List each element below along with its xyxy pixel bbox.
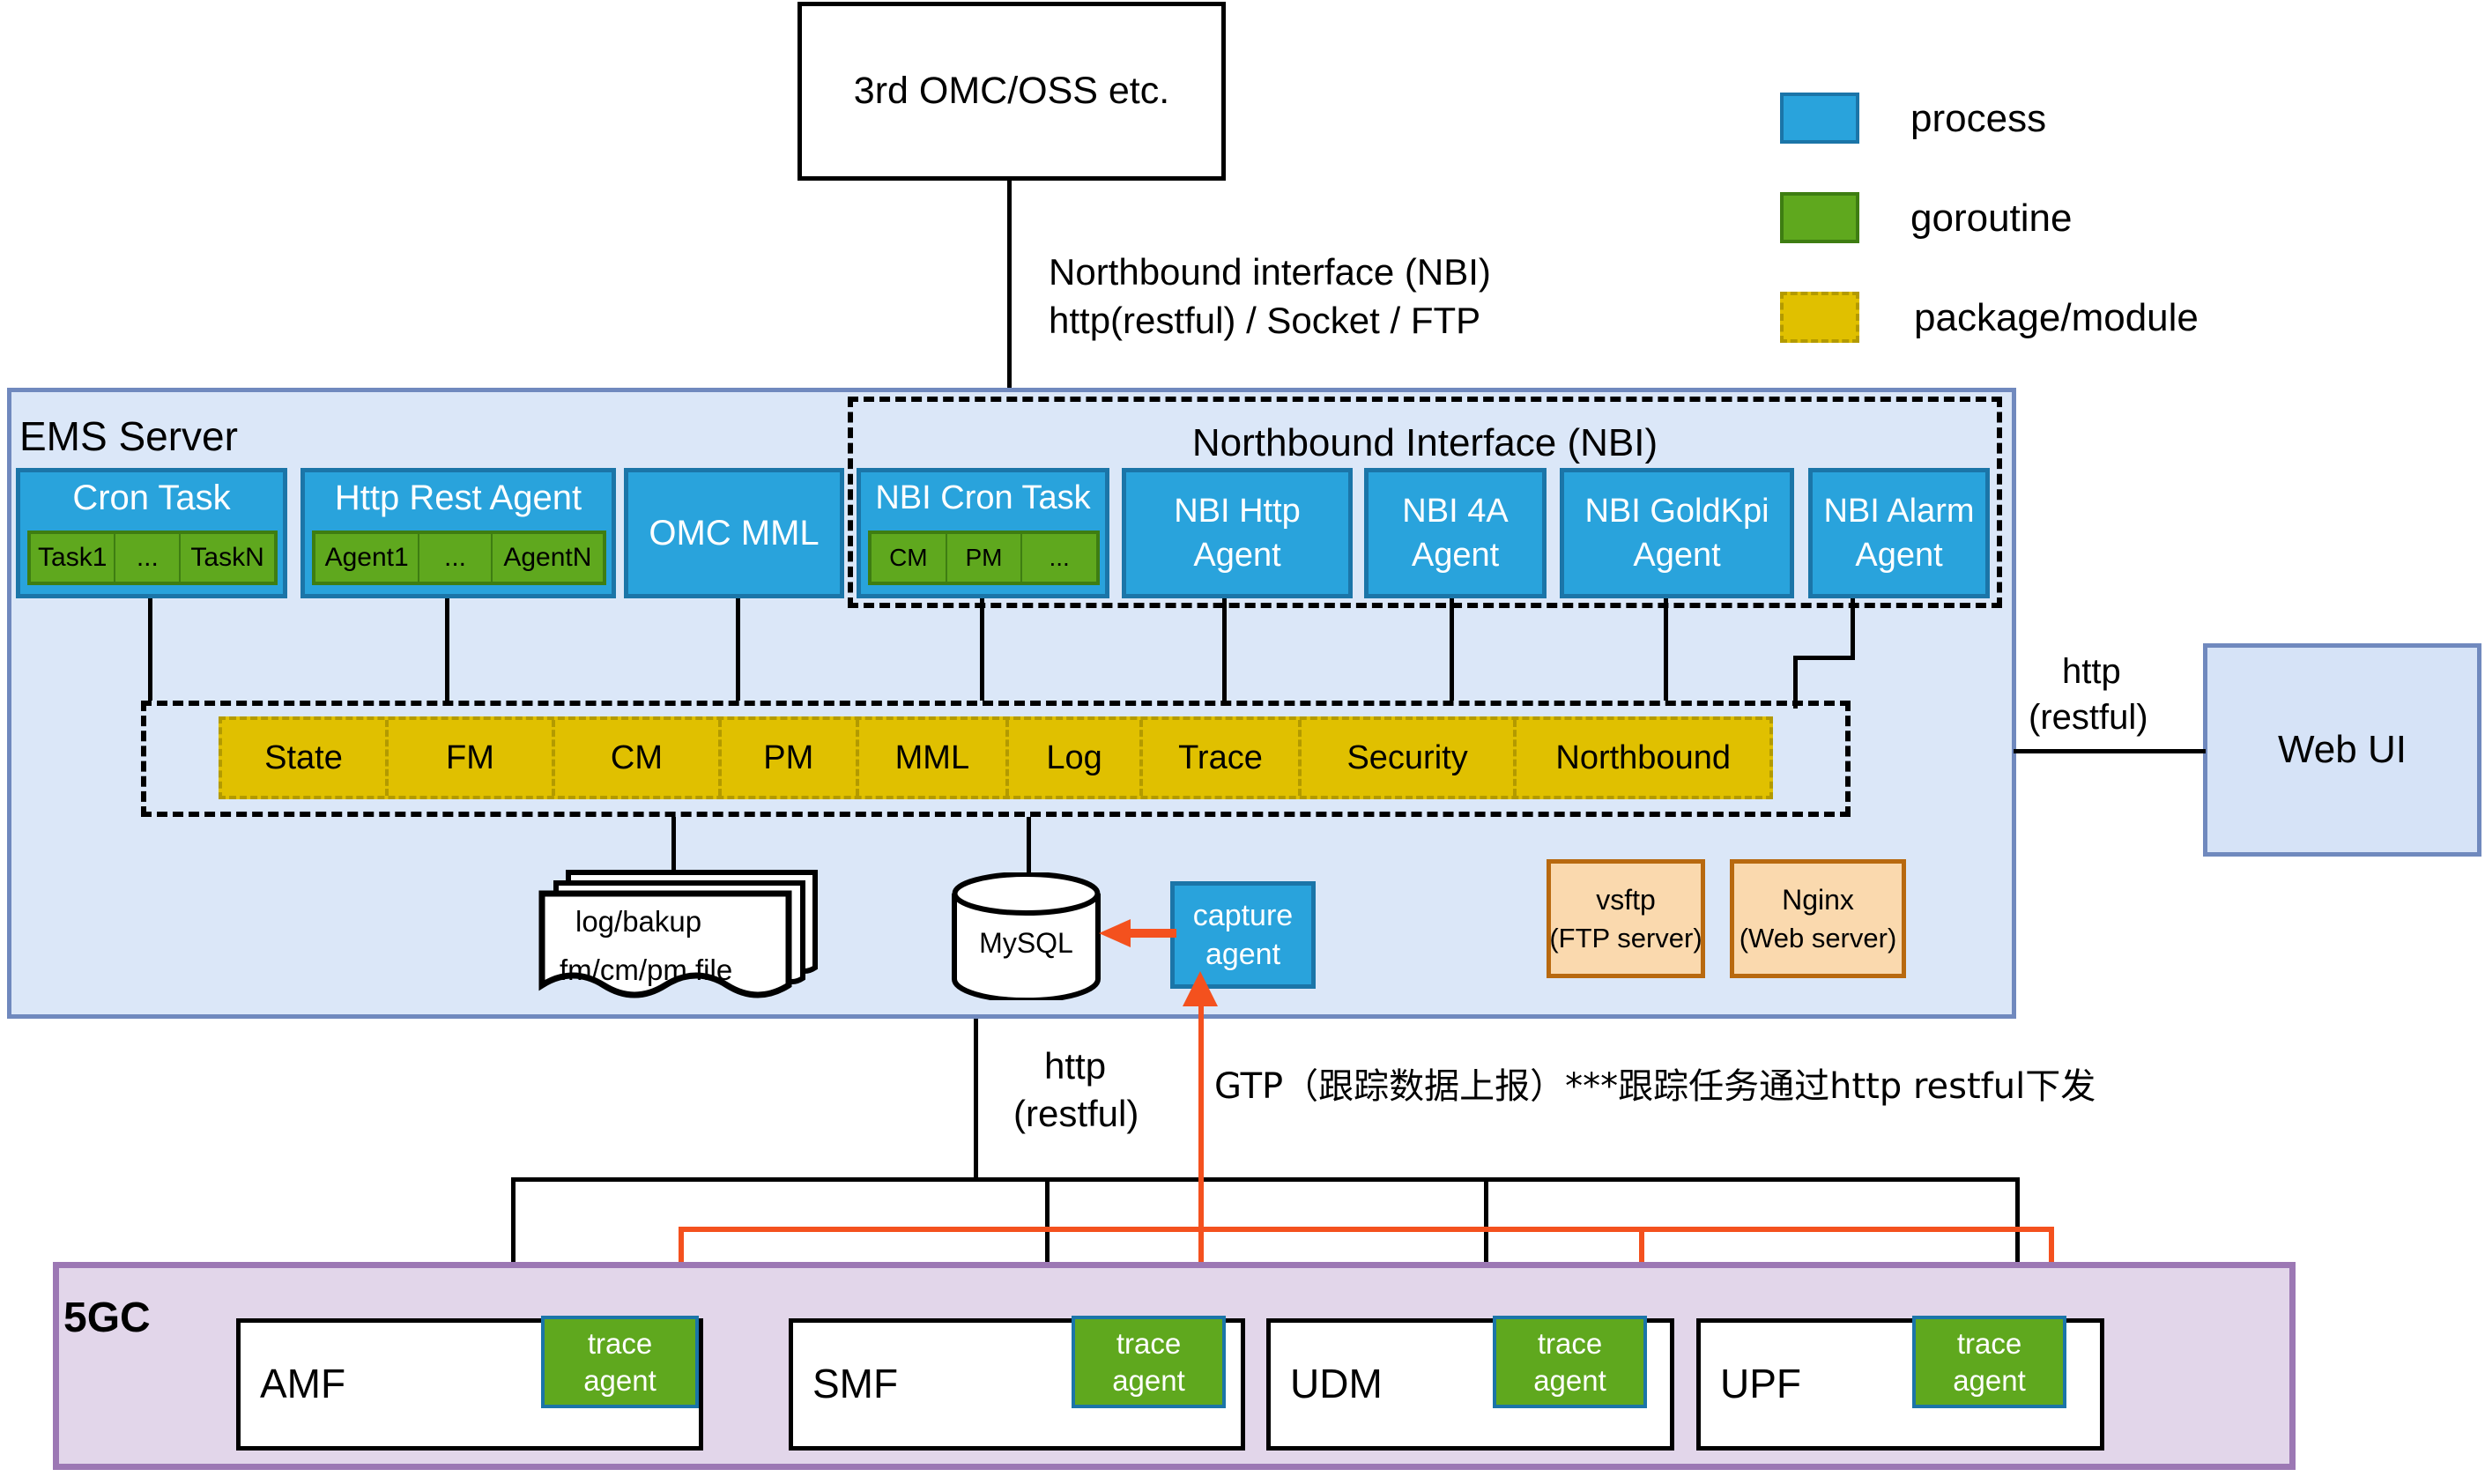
- connector-http-rest-agent-to-modules: [445, 598, 449, 701]
- connector-modules-to-mysql: [1027, 817, 1031, 874]
- goroutine-agent1[interactable]: Agent1: [312, 531, 419, 585]
- nbi-cron-task-goroutines: CM PM ...: [868, 531, 1100, 585]
- connector-nbi-cron-task-to-modules: [980, 598, 984, 701]
- connector-ems-to-5gc-trunk: [974, 1019, 978, 1179]
- goroutine-nbi-pm[interactable]: PM: [947, 531, 1023, 585]
- process-nbi-http-agent-label-line2: Agent: [1193, 533, 1280, 577]
- trace-agent-upf-line1: trace: [1957, 1325, 2021, 1362]
- goroutine-task-ellipsis: ...: [115, 531, 181, 585]
- goroutine-agent-ellipsis: ...: [419, 531, 493, 585]
- external-omc-oss-box[interactable]: 3rd OMC/OSS etc.: [797, 2, 1226, 181]
- legend-swatch-goroutine: [1780, 192, 1859, 243]
- process-nbi-alarm-agent-label-line2: Agent: [1855, 533, 1942, 577]
- legend: process goroutine package/module: [1780, 93, 2309, 313]
- trace-agent-upf-line2: agent: [1953, 1362, 2026, 1399]
- mysql-label: MySQL: [949, 927, 1103, 960]
- legend-label-package-module: package/module: [1914, 296, 2199, 340]
- goroutine-nbi-ellipsis: ...: [1022, 531, 1100, 585]
- connector-5gc-bus: [511, 1177, 2020, 1182]
- server-nginx-name: Nginx: [1782, 880, 1854, 919]
- legend-swatch-process: [1780, 93, 1859, 144]
- process-cron-task-label: Cron Task: [20, 472, 283, 523]
- external-omc-oss-label: 3rd OMC/OSS etc.: [854, 70, 1169, 113]
- process-cron-task[interactable]: Cron Task Task1 ... TaskN: [16, 468, 287, 598]
- http-rest-agent-goroutines: Agent1 ... AgentN: [312, 531, 606, 585]
- log-backup-label-line2: fm/cm/pm file: [560, 953, 732, 987]
- nbi-link-label-line1: Northbound interface (NBI): [1049, 251, 1491, 293]
- trace-flow-trunk: [1198, 991, 1204, 1229]
- trace-agent-upf[interactable]: trace agent: [1912, 1316, 2066, 1408]
- connector-cron-task-to-modules: [148, 598, 152, 701]
- process-nbi-alarm-agent-label-line1: NBI Alarm: [1823, 489, 1974, 533]
- module-pm[interactable]: PM: [722, 720, 859, 796]
- nf-amf-label: AMF: [260, 1360, 345, 1407]
- web-ui-box[interactable]: Web UI: [2203, 643, 2481, 857]
- module-cm[interactable]: CM: [555, 720, 722, 796]
- process-nbi-goldkpi-agent-label-line2: Agent: [1633, 533, 1720, 577]
- capture-agent-label-line2: agent: [1205, 935, 1280, 974]
- process-nbi-cron-task[interactable]: NBI Cron Task CM PM ...: [857, 468, 1109, 598]
- legend-label-process: process: [1910, 97, 2046, 141]
- cron-task-goroutines: Task1 ... TaskN: [27, 531, 278, 585]
- trace-agent-udm-line2: agent: [1533, 1362, 1606, 1399]
- trace-agent-amf-line2: agent: [583, 1362, 656, 1399]
- legend-label-goroutine: goroutine: [1910, 197, 2072, 241]
- module-northbound[interactable]: Northbound: [1517, 720, 1769, 796]
- process-nbi-cron-task-label: NBI Cron Task: [861, 472, 1105, 523]
- mysql-database[interactable]: MySQL: [949, 872, 1103, 1000]
- connector-ems-to-webui: [2014, 749, 2206, 753]
- nbi-container-title: Northbound Interface (NBI): [848, 421, 2002, 465]
- trace-flow-bus: [679, 1227, 2054, 1232]
- nf-smf-label: SMF: [812, 1360, 898, 1407]
- ems-5gc-link-label-line2: (restful): [1013, 1093, 1139, 1135]
- process-omc-mml[interactable]: OMC MML: [624, 468, 844, 598]
- trace-flow-note: GTP（跟踪数据上报）***跟踪任务通过http restful下发: [1214, 1057, 2096, 1109]
- connector-nbi-alarm-agent-step: [1793, 656, 1855, 660]
- server-vsftp-name: vsftp: [1596, 880, 1656, 919]
- arrow-trace-flow-to-capture-agent: [1179, 969, 1221, 1010]
- connector-nbi-4a-agent-to-modules: [1450, 598, 1454, 701]
- goroutine-task1[interactable]: Task1: [27, 531, 115, 585]
- process-http-rest-agent-label: Http Rest Agent: [305, 472, 612, 523]
- trace-agent-udm-line1: trace: [1538, 1325, 1602, 1362]
- server-vsftp[interactable]: vsftp (FTP server): [1547, 859, 1705, 978]
- webui-link-label-line2: (restful): [2029, 698, 2148, 738]
- goroutine-nbi-cm[interactable]: CM: [868, 531, 947, 585]
- connector-omc-mml-to-modules: [736, 598, 740, 701]
- nbi-link-label-line2: http(restful) / Socket / FTP: [1049, 300, 1480, 342]
- nf-upf-label: UPF: [1720, 1360, 1801, 1407]
- webui-link-label-line1: http: [2062, 652, 2121, 692]
- server-nginx-role: (Web server): [1739, 919, 1897, 958]
- process-nbi-http-agent-label-line1: NBI Http: [1174, 489, 1301, 533]
- process-nbi-http-agent[interactable]: NBI Http Agent: [1122, 468, 1353, 598]
- log-backup-file-stack: log/bakup fm/cm/pm file: [533, 857, 833, 1002]
- module-security[interactable]: Security: [1302, 720, 1517, 796]
- module-mml[interactable]: MML: [859, 720, 1009, 796]
- trace-agent-smf-line2: agent: [1112, 1362, 1185, 1399]
- ems-server-title: EMS Server: [19, 412, 238, 460]
- arrow-capture-agent-to-mysql: [1095, 915, 1176, 952]
- module-log[interactable]: Log: [1009, 720, 1143, 796]
- modules-bar: State FM CM PM MML Log Trace Security No…: [219, 716, 1773, 799]
- process-nbi-4a-agent[interactable]: NBI 4A Agent: [1364, 468, 1547, 598]
- trace-agent-amf-line1: trace: [588, 1325, 652, 1362]
- process-nbi-4a-agent-label-line1: NBI 4A: [1402, 489, 1508, 533]
- process-omc-mml-label: OMC MML: [649, 514, 819, 553]
- log-backup-label-line1: log/bakup: [575, 905, 701, 939]
- gc-title: 5GC: [63, 1294, 151, 1342]
- nf-udm-label: UDM: [1290, 1360, 1383, 1407]
- goroutine-agentn[interactable]: AgentN: [493, 531, 606, 585]
- process-nbi-goldkpi-agent[interactable]: NBI GoldKpi Agent: [1560, 468, 1794, 598]
- process-nbi-alarm-agent[interactable]: NBI Alarm Agent: [1808, 468, 1990, 598]
- connector-nbi-alarm-agent-stub: [1851, 598, 1855, 659]
- connector-nbi-goldkpi-agent-to-modules: [1664, 598, 1668, 701]
- connector-omcoss-to-ems: [1007, 181, 1012, 397]
- ems-5gc-link-label-line1: http: [1044, 1045, 1106, 1087]
- server-nginx[interactable]: Nginx (Web server): [1730, 859, 1906, 978]
- process-nbi-4a-agent-label-line2: Agent: [1412, 533, 1499, 577]
- web-ui-label: Web UI: [2278, 728, 2407, 772]
- module-fm[interactable]: FM: [389, 720, 555, 796]
- legend-swatch-package-module: [1780, 292, 1859, 343]
- module-trace[interactable]: Trace: [1143, 720, 1302, 796]
- server-vsftp-role: (FTP server): [1549, 919, 1702, 958]
- connector-nbi-http-agent-to-modules: [1222, 598, 1227, 701]
- capture-agent-label-line1: capture: [1193, 896, 1293, 935]
- process-nbi-goldkpi-agent-label-line1: NBI GoldKpi: [1584, 489, 1769, 533]
- trace-agent-amf[interactable]: trace agent: [541, 1316, 699, 1408]
- trace-agent-udm[interactable]: trace agent: [1493, 1316, 1647, 1408]
- trace-agent-smf[interactable]: trace agent: [1072, 1316, 1226, 1408]
- process-http-rest-agent[interactable]: Http Rest Agent Agent1 ... AgentN: [300, 468, 616, 598]
- module-state[interactable]: State: [222, 720, 389, 796]
- trace-agent-smf-line1: trace: [1116, 1325, 1181, 1362]
- goroutine-taskn[interactable]: TaskN: [181, 531, 278, 585]
